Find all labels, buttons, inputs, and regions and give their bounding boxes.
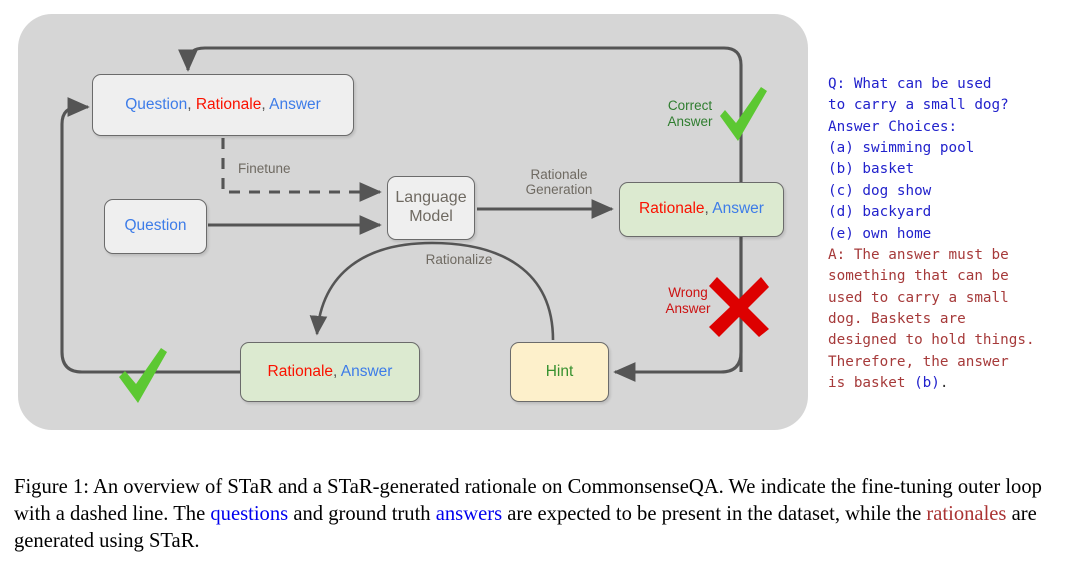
qra-rationale-text: Rationale: [196, 96, 262, 113]
qa-question-block: Q: What can be used to carry a small dog…: [828, 76, 1009, 242]
check-mark-icon-correct: [716, 85, 770, 143]
caption-part3: are expected to be present in the datase…: [502, 503, 926, 525]
qa-answer-block: A: The answer must be something that can…: [828, 247, 1035, 391]
ra-bottom-rationale: Rationale: [268, 363, 334, 380]
ra-bottom-answer: Answer: [341, 363, 393, 380]
caption-rationales-word: rationales: [926, 503, 1006, 525]
ra-right-rationale: Rationale: [639, 200, 705, 217]
ra-bottom-sep: ,: [333, 363, 341, 380]
caption-answers-word: answers: [436, 503, 502, 525]
ra-right-answer: Answer: [712, 200, 764, 217]
hint-label: Hint: [546, 363, 574, 381]
qra-answer-text: Answer: [269, 96, 321, 113]
lm-line2: Model: [409, 208, 453, 225]
node-hint[interactable]: Hint: [510, 342, 609, 402]
qa-example-panel: Q: What can be used to carry a small dog…: [828, 74, 1088, 394]
figure-root: Question, Rationale, Answer Question Lan…: [0, 0, 1092, 574]
edge-label-rationalize: Rationalize: [404, 252, 514, 267]
figure-caption: Figure 1: An overview of STaR and a STaR…: [14, 474, 1078, 554]
node-question-rationale-answer[interactable]: Question, Rationale, Answer: [92, 74, 354, 136]
caption-part2: and ground truth: [288, 503, 436, 525]
check-mark-icon-accepted: [115, 345, 171, 405]
qra-sep2: ,: [261, 96, 269, 113]
qra-sep1: ,: [187, 96, 196, 113]
lm-line1: Language: [395, 189, 466, 206]
qa-answer-period: .: [940, 375, 949, 391]
node-rationale-answer-generated[interactable]: Rationale, Answer: [619, 182, 784, 237]
question-label: Question: [124, 217, 186, 235]
qra-question-text: Question: [125, 96, 187, 113]
node-question[interactable]: Question: [104, 199, 207, 254]
caption-questions-word: questions: [210, 503, 288, 525]
qa-answer-choice: (b): [914, 375, 940, 391]
edge-label-finetune: Finetune: [238, 161, 310, 176]
edge-label-rationale-generation: Rationale Generation: [508, 167, 610, 197]
node-rationale-answer-rationalized[interactable]: Rationale, Answer: [240, 342, 420, 402]
cross-mark-icon-wrong: [707, 275, 771, 339]
node-language-model[interactable]: Language Model: [387, 176, 475, 240]
